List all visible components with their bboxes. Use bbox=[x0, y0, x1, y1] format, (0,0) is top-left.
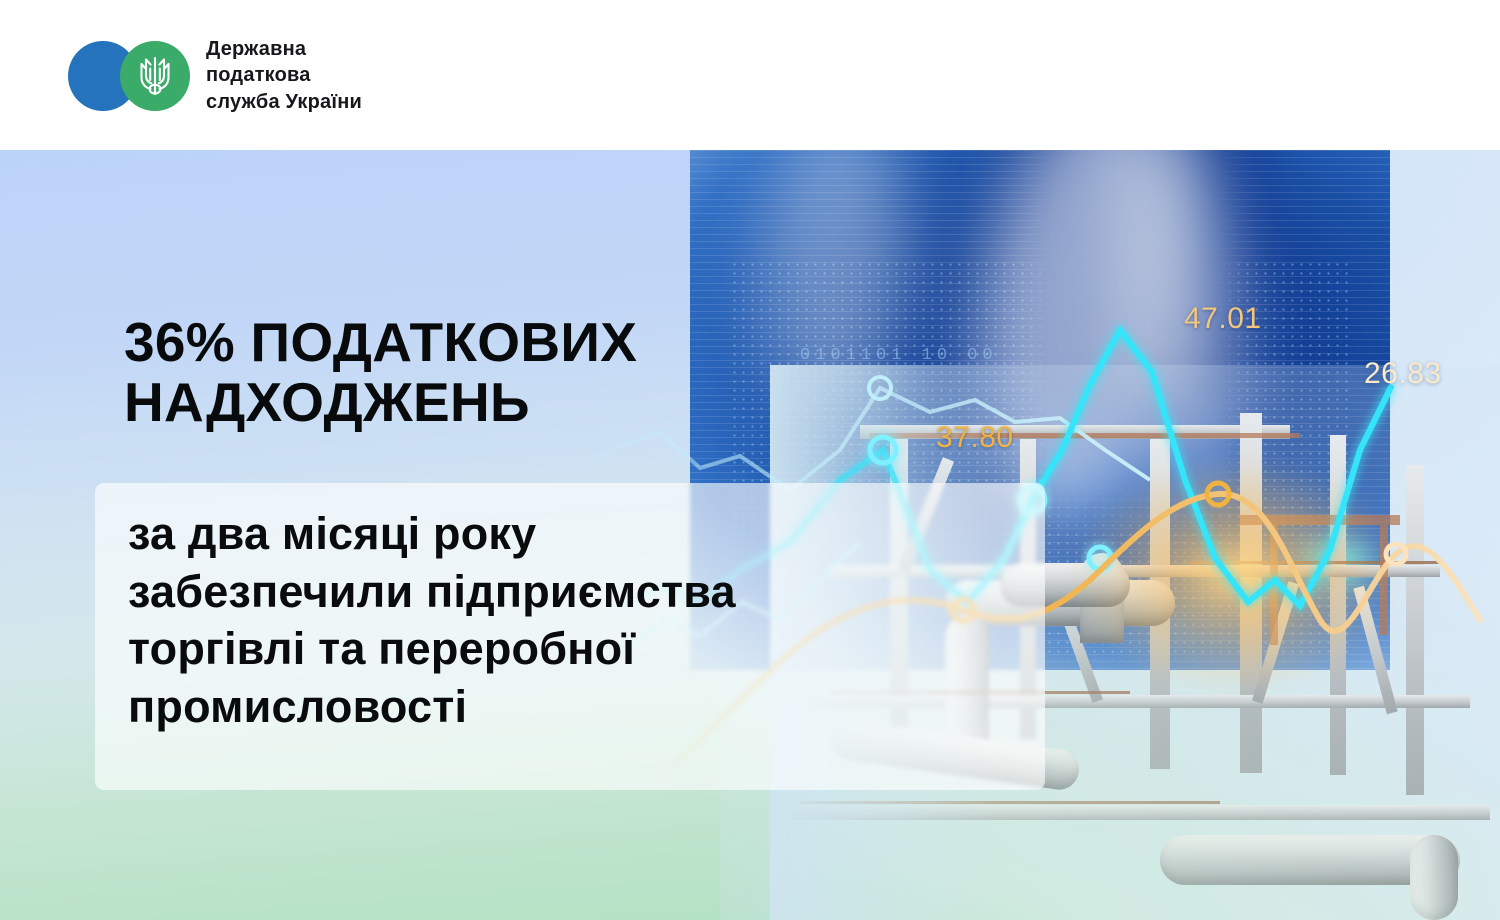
logo-text: Державна податкова служба України bbox=[206, 36, 362, 115]
ukrainian-trident-icon bbox=[120, 41, 190, 111]
page-headline: 36% ПОДАТКОВИХ НАДХОДЖЕНЬ bbox=[124, 313, 904, 433]
header-band: Державна податкова служба України bbox=[0, 0, 1500, 150]
organisation-logo: Державна податкова служба України bbox=[68, 36, 362, 115]
chart-label-37-80: 37.80 bbox=[936, 421, 1014, 455]
chart-label-26-83: 26.83 bbox=[1364, 357, 1442, 391]
page-body-text: за два місяці року забезпечили підприємс… bbox=[128, 505, 1028, 735]
logo-marks bbox=[68, 41, 190, 111]
chart-label-47-01: 47.01 bbox=[1184, 302, 1262, 336]
infographic-canvas: Державна податкова служба України 010110… bbox=[0, 0, 1500, 920]
